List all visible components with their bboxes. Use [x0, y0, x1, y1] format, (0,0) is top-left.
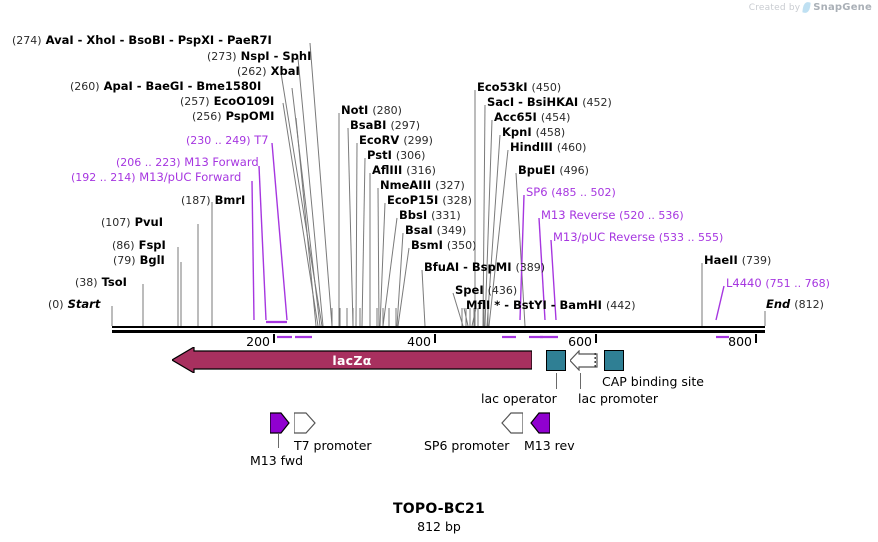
- enzyme-name: KpnI: [502, 125, 532, 139]
- start-marker[interactable]: (0) Start: [48, 298, 100, 311]
- enzyme-label[interactable]: (274) AvaI - XhoI - BsoBI - PspXI - PaeR…: [12, 34, 272, 47]
- enzyme-position: (328): [442, 194, 472, 207]
- enzyme-position: (458): [536, 126, 566, 139]
- enzyme-name: BbsI: [399, 208, 427, 222]
- enzyme-name: BsaI: [405, 223, 433, 237]
- enzyme-label[interactable]: MflI * - BstYI - BamHI (442): [466, 299, 636, 312]
- enzyme-label[interactable]: (187) BmrI: [181, 194, 245, 207]
- enzyme-name: PvuI: [135, 215, 163, 229]
- enzyme-name: ApaI - BaeGI - Bme1580I: [104, 79, 262, 93]
- sp6-promoter-arrow[interactable]: [501, 412, 523, 434]
- feature-label[interactable]: M13 Reverse (520 .. 536): [541, 209, 684, 222]
- cap-binding-site-label: CAP binding site: [602, 374, 704, 389]
- enzyme-label[interactable]: EcoRV (299): [359, 134, 433, 147]
- start-position: (0): [48, 298, 64, 311]
- enzyme-name: AflIII: [372, 163, 402, 177]
- enzyme-name: NspI - SphI: [241, 49, 312, 63]
- feature-label[interactable]: (192 .. 214) M13/pUC Forward: [71, 171, 241, 184]
- enzyme-name: PspOMI: [226, 109, 275, 123]
- feature-label[interactable]: M13/pUC Reverse (533 .. 555): [553, 231, 723, 244]
- enzyme-name: TsoI: [102, 275, 127, 289]
- enzyme-name: SpeI: [455, 283, 484, 297]
- enzyme-position: (262): [237, 65, 267, 78]
- feature-range: (520 .. 536): [619, 209, 684, 222]
- feature-label[interactable]: L4440 (751 .. 768): [726, 277, 830, 290]
- axis-tick-label: 800: [728, 334, 754, 349]
- enzyme-label[interactable]: (79) BglI: [113, 254, 165, 267]
- enzyme-position: (107): [101, 216, 131, 229]
- feature-range: (533 .. 555): [659, 231, 724, 244]
- enzyme-label[interactable]: (273) NspI - SphI: [207, 50, 311, 63]
- feature-range: (192 .. 214): [71, 171, 136, 184]
- enzyme-name: BsmI: [411, 238, 443, 252]
- enzyme-position: (79): [113, 254, 136, 267]
- enzyme-position: (187): [181, 194, 211, 207]
- axis-tick: [755, 334, 757, 343]
- m13-fwd-leader: [278, 434, 279, 448]
- enzyme-label[interactable]: (262) XbaI: [237, 65, 300, 78]
- enzyme-position: (274): [12, 34, 42, 47]
- end-position: (812): [794, 298, 824, 311]
- t7-promoter-arrow[interactable]: [294, 412, 316, 434]
- enzyme-position: (350): [447, 239, 477, 252]
- enzyme-position: (450): [532, 81, 562, 94]
- feature-range: (485 .. 502): [551, 186, 616, 199]
- enzyme-label[interactable]: SacI - BsiHKAI (452): [487, 96, 612, 109]
- enzyme-position: (297): [390, 119, 420, 132]
- axis-tick: [273, 334, 275, 343]
- enzyme-position: (306): [396, 149, 426, 162]
- snapgene-watermark: Created by SnapGene: [749, 2, 872, 13]
- enzyme-position: (739): [742, 254, 772, 267]
- watermark-prefix: Created by: [749, 3, 801, 13]
- enzyme-label[interactable]: EcoP15I (328): [387, 194, 472, 207]
- feature-name: M13/pUC Reverse: [553, 230, 655, 244]
- enzyme-label[interactable]: BfuAI - BspMI (389): [424, 261, 545, 274]
- enzyme-position: (299): [403, 134, 433, 147]
- enzyme-name: SacI - BsiHKAI: [487, 95, 578, 109]
- enzyme-position: (349): [437, 224, 467, 237]
- enzyme-name: EcoO109I: [214, 94, 275, 108]
- plasmid-length: 812 bp: [0, 519, 878, 534]
- enzyme-position: (327): [435, 179, 465, 192]
- m13-rev-label: M13 rev: [524, 438, 575, 453]
- enzyme-name: BmrI: [215, 193, 246, 207]
- enzyme-name: NotI: [341, 103, 368, 117]
- enzyme-name: BfuAI - BspMI: [424, 260, 511, 274]
- enzyme-label[interactable]: BsmI (350): [411, 239, 476, 252]
- enzyme-label[interactable]: BsaI (349): [405, 224, 466, 237]
- sequence-axis-bottom[interactable]: [112, 330, 765, 333]
- end-label: End: [766, 297, 790, 311]
- enzyme-position: (260): [70, 80, 100, 93]
- feature-name: M13 Forward: [184, 155, 258, 169]
- enzyme-position: (280): [372, 104, 402, 117]
- enzyme-name: FspI: [139, 238, 166, 252]
- enzyme-label[interactable]: PstI (306): [367, 149, 425, 162]
- enzyme-position: (496): [559, 164, 589, 177]
- axis-tick: [595, 334, 597, 343]
- enzyme-position: (454): [541, 111, 571, 124]
- feature-name: M13/pUC Forward: [139, 170, 241, 184]
- enzyme-position: (389): [516, 261, 546, 274]
- enzyme-name: MflI * - BstYI - BamHI: [466, 298, 602, 312]
- enzyme-label[interactable]: BbsI (331): [399, 209, 461, 222]
- feature-range: (230 .. 249): [186, 134, 251, 147]
- enzyme-position: (273): [207, 50, 237, 63]
- enzyme-label[interactable]: (256) PspOMI: [192, 110, 274, 123]
- feature-range: (751 .. 768): [765, 277, 830, 290]
- enzyme-label[interactable]: Acc65I (454): [494, 111, 570, 124]
- enzyme-label[interactable]: HindIII (460): [510, 141, 586, 154]
- lac-operator-box[interactable]: [546, 350, 566, 371]
- feature-label[interactable]: (206 .. 223) M13 Forward: [116, 156, 259, 169]
- enzyme-label[interactable]: (38) TsoI: [75, 276, 127, 289]
- axis-tick-label: 600: [568, 334, 594, 349]
- enzyme-position: (331): [431, 209, 461, 222]
- enzyme-name: BglI: [140, 253, 165, 267]
- enzyme-name: NmeAIII: [380, 178, 431, 192]
- axis-tick: [434, 334, 436, 343]
- enzyme-label[interactable]: Eco53kI (450): [477, 81, 561, 94]
- enzyme-position: (86): [112, 239, 135, 252]
- enzyme-label[interactable]: (107) PvuI: [101, 216, 163, 229]
- t7-promoter-label: T7 promoter: [294, 438, 372, 453]
- sequence-axis-top: [112, 326, 765, 328]
- enzyme-label[interactable]: AflIII (316): [372, 164, 436, 177]
- enzyme-position: (460): [557, 141, 587, 154]
- enzyme-name: PstI: [367, 148, 392, 162]
- enzyme-name: HaeII: [704, 253, 738, 267]
- feature-name: T7: [254, 133, 268, 147]
- enzyme-label[interactable]: (260) ApaI - BaeGI - Bme1580I: [70, 80, 261, 93]
- sp6-promoter-label: SP6 promoter: [424, 438, 509, 453]
- watermark-brand: SnapGene: [813, 2, 872, 13]
- enzyme-position: (38): [75, 276, 98, 289]
- lac-operator-leader: [556, 373, 557, 389]
- enzyme-position: (442): [606, 299, 636, 312]
- enzyme-label[interactable]: KpnI (458): [502, 126, 565, 139]
- cap-binding-site-box[interactable]: [604, 350, 624, 371]
- enzyme-position: (436): [488, 284, 518, 297]
- enzyme-name: Acc65I: [494, 110, 537, 124]
- lac-promoter-arrow[interactable]: [570, 350, 598, 371]
- enzyme-label[interactable]: BsaBI (297): [350, 119, 420, 132]
- plasmid-title: TOPO-BC21: [0, 501, 878, 517]
- snapgene-leaf-icon: [803, 2, 811, 14]
- feature-name: L4440: [726, 276, 762, 290]
- enzyme-label[interactable]: (86) FspI: [112, 239, 166, 252]
- enzyme-position: (257): [180, 95, 210, 108]
- enzyme-position: (452): [582, 96, 612, 109]
- enzyme-label[interactable]: NotI (280): [341, 104, 402, 117]
- end-marker[interactable]: End (812): [766, 298, 824, 311]
- enzyme-position: (316): [406, 164, 436, 177]
- feature-range: (206 .. 223): [116, 156, 181, 169]
- start-label: Start: [68, 297, 101, 311]
- feature-label[interactable]: (230 .. 249) T7: [186, 134, 269, 147]
- lac-promoter-leader: [580, 373, 581, 389]
- enzyme-label[interactable]: SpeI (436): [455, 284, 517, 297]
- enzyme-label[interactable]: (257) EcoO109I: [180, 95, 274, 108]
- m13-rev-arrow[interactable]: [530, 412, 550, 434]
- m13-fwd-arrow[interactable]: [270, 412, 290, 434]
- enzyme-name: BpuEI: [518, 163, 555, 177]
- enzyme-position: (256): [192, 110, 222, 123]
- lac-operator-label: lac operator: [481, 391, 557, 406]
- enzyme-name: EcoRV: [359, 133, 399, 147]
- lac-promoter-label: lac promoter: [578, 391, 658, 406]
- enzyme-label[interactable]: NmeAIII (327): [380, 179, 465, 192]
- enzyme-name: Eco53kI: [477, 80, 528, 94]
- feature-label[interactable]: SP6 (485 .. 502): [526, 186, 616, 199]
- enzyme-name: BsaBI: [350, 118, 386, 132]
- m13-fwd-label: M13 fwd: [250, 453, 303, 468]
- lacz-alpha-label: lacZα: [172, 347, 532, 373]
- enzyme-name: EcoP15I: [387, 193, 438, 207]
- feature-name: M13 Reverse: [541, 208, 615, 222]
- enzyme-label[interactable]: HaeII (739): [704, 254, 771, 267]
- feature-name: SP6: [526, 185, 548, 199]
- enzyme-name: HindIII: [510, 140, 553, 154]
- enzyme-label[interactable]: BpuEI (496): [518, 164, 589, 177]
- enzyme-name: XbaI: [271, 64, 300, 78]
- enzyme-name: AvaI - XhoI - BsoBI - PspXI - PaeR7I: [46, 33, 272, 47]
